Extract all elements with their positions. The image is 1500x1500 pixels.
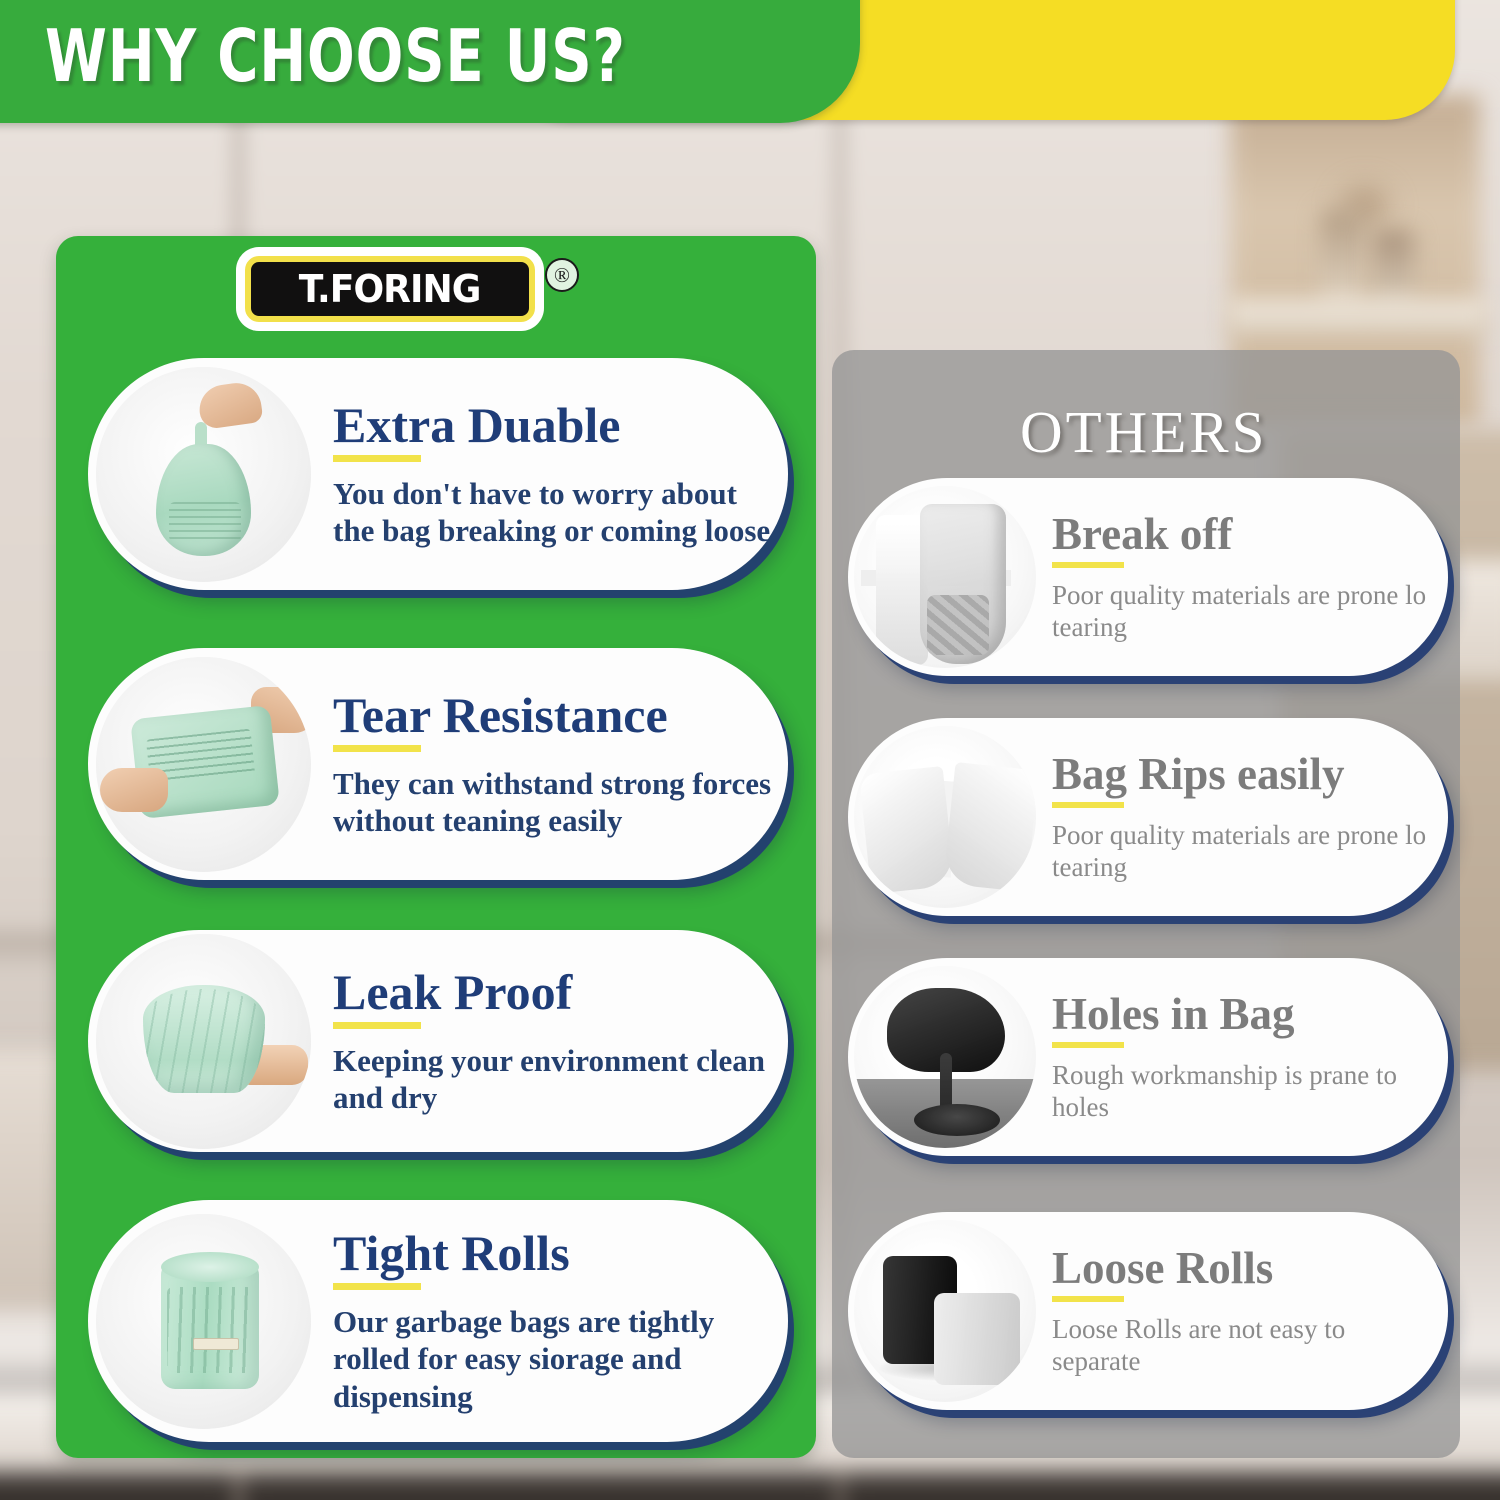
drawback-card-text: Loose Rolls Loose Rolls are not easy to … <box>1036 1245 1448 1378</box>
feature-card-leak-proof[interactable]: Leak Proof Keeping your environment clea… <box>88 930 788 1152</box>
hands-stretching-bag-photo <box>96 657 311 872</box>
others-heading: OTHERS <box>1020 398 1267 467</box>
title-underline-accent <box>1052 1042 1124 1048</box>
logo-text: T.FORING <box>299 267 481 311</box>
feature-description: Our garbage bags are tightly rolled for … <box>333 1303 772 1415</box>
drawback-card-text: Holes in Bag Rough workmanship is prane … <box>1036 991 1448 1124</box>
feature-card-text: Leak Proof Keeping your environment clea… <box>311 966 788 1116</box>
feature-title: Leak Proof <box>333 966 772 1018</box>
feature-card-text: Tight Rolls Our garbage bags are tightly… <box>311 1227 788 1415</box>
feature-description: You don't have to worry about the bag br… <box>333 475 772 549</box>
feature-description: They can withstand strong forces without… <box>333 765 772 839</box>
drawback-description: Loose Rolls are not easy to separate <box>1052 1313 1432 1378</box>
background-jar-right <box>1372 230 1414 310</box>
drawback-title: Holes in Bag <box>1052 991 1432 1038</box>
feature-title: Tight Rolls <box>333 1227 772 1279</box>
drawback-description: Rough workmanship is prane to holes <box>1052 1059 1432 1124</box>
drawback-card-bag-rips-easily[interactable]: Bag Rips easily Poor quality materials a… <box>848 718 1448 916</box>
title-underline-accent <box>1052 802 1124 808</box>
page-title: WHY CHOOSE US? <box>45 14 626 98</box>
drawback-card-text: Break off Poor quality materials are pro… <box>1036 511 1448 644</box>
drawback-card-loose-rolls[interactable]: Loose Rolls Loose Rolls are not easy to … <box>848 1212 1448 1410</box>
background-jar-left <box>1320 210 1364 310</box>
black-bag-leaking-photo <box>854 966 1036 1148</box>
drawback-title: Loose Rolls <box>1052 1245 1432 1292</box>
drawback-card-break-off[interactable]: Break off Poor quality materials are pro… <box>848 478 1448 676</box>
feature-card-tear-resistance[interactable]: Tear Resistance They can withstand stron… <box>88 648 788 880</box>
registered-trademark-icon: ® <box>545 258 579 292</box>
logo-plate: T.FORING <box>245 256 535 322</box>
open-green-bag-photo <box>96 934 311 1149</box>
header-green-banner: WHY CHOOSE US? <box>0 0 860 123</box>
title-underline-accent <box>333 1022 421 1029</box>
title-underline-accent <box>333 1283 421 1290</box>
person-carrying-clear-bag-photo <box>854 486 1036 668</box>
feature-description: Keeping your environment clean and dry <box>333 1042 772 1116</box>
title-underline-accent <box>1052 1296 1124 1302</box>
ripped-white-bag-photo <box>854 726 1036 908</box>
feature-title: Tear Resistance <box>333 689 772 741</box>
feature-card-text: Extra Duable You don't have to worry abo… <box>311 399 788 549</box>
drawback-title: Bag Rips easily <box>1052 751 1432 798</box>
title-underline-accent <box>333 455 421 462</box>
hand-holding-green-bag-photo <box>96 367 311 582</box>
background-shelf-board <box>1228 300 1488 334</box>
feature-card-text: Tear Resistance They can withstand stron… <box>311 689 788 839</box>
loose-rolls-photo <box>854 1220 1036 1402</box>
drawback-title: Break off <box>1052 511 1432 558</box>
feature-title: Extra Duable <box>333 399 772 451</box>
drawback-card-text: Bag Rips easily Poor quality materials a… <box>1036 751 1448 884</box>
brand-logo: T.FORING ® <box>245 256 590 328</box>
drawback-description: Poor quality materials are prone lo tear… <box>1052 579 1432 644</box>
green-bag-roll-photo <box>96 1214 311 1429</box>
feature-card-tight-rolls[interactable]: Tight Rolls Our garbage bags are tightly… <box>88 1200 788 1442</box>
title-underline-accent <box>1052 562 1124 568</box>
drawback-description: Poor quality materials are prone lo tear… <box>1052 819 1432 884</box>
drawback-card-holes-in-bag[interactable]: Holes in Bag Rough workmanship is prane … <box>848 958 1448 1156</box>
feature-card-extra-duable[interactable]: Extra Duable You don't have to worry abo… <box>88 358 788 590</box>
infographic-canvas: WHY CHOOSE US? T.FORING ® OTHERS Extra D… <box>0 0 1500 1500</box>
title-underline-accent <box>333 745 421 752</box>
